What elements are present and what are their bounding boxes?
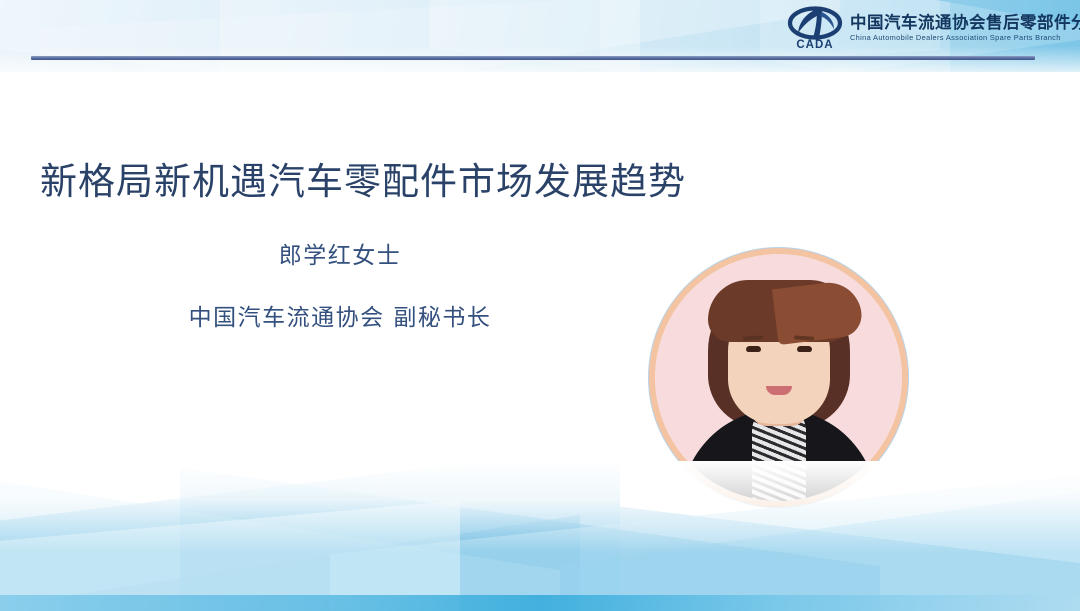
svg-text:CADA: CADA — [796, 39, 833, 50]
header-divider-rule — [31, 56, 1035, 60]
slide-content: 新格局新机遇汽车零配件市场发展趋势 郎学红女士 中国汽车流通协会 副秘书长 — [0, 72, 1080, 502]
portrait-eye-right — [797, 346, 812, 352]
portrait-hair-sweep — [771, 279, 863, 345]
portrait-eye-left — [746, 346, 761, 352]
speaker-role: 中国汽车流通协会 副秘书长 — [40, 298, 640, 332]
cada-org-name-en: China Automobile Dealers Association Spa… — [850, 34, 1080, 41]
cada-org-name-cn: 中国汽车流通协会售后零部件分会 — [850, 15, 1080, 32]
title-block: 新格局新机遇汽车零配件市场发展趋势 郎学红女士 中国汽车流通协会 副秘书长 — [40, 160, 640, 332]
footer-decoration — [0, 461, 1080, 611]
speaker-name: 郎学红女士 — [40, 236, 640, 270]
footer-gradient-fade — [0, 461, 1080, 553]
cada-logo: CADA 中国汽车流通协会售后零部件分会 China Automobile De… — [786, 5, 1080, 51]
slide-title: 新格局新机遇汽车零配件市场发展趋势 — [40, 160, 640, 204]
title-slide: CADA 中国汽车流通协会售后零部件分会 China Automobile De… — [0, 0, 1080, 611]
cada-logo-text: 中国汽车流通协会售后零部件分会 China Automobile Dealers… — [850, 15, 1080, 42]
cada-logo-mark-icon: CADA — [786, 6, 844, 50]
footer-base-strip — [0, 595, 1080, 611]
